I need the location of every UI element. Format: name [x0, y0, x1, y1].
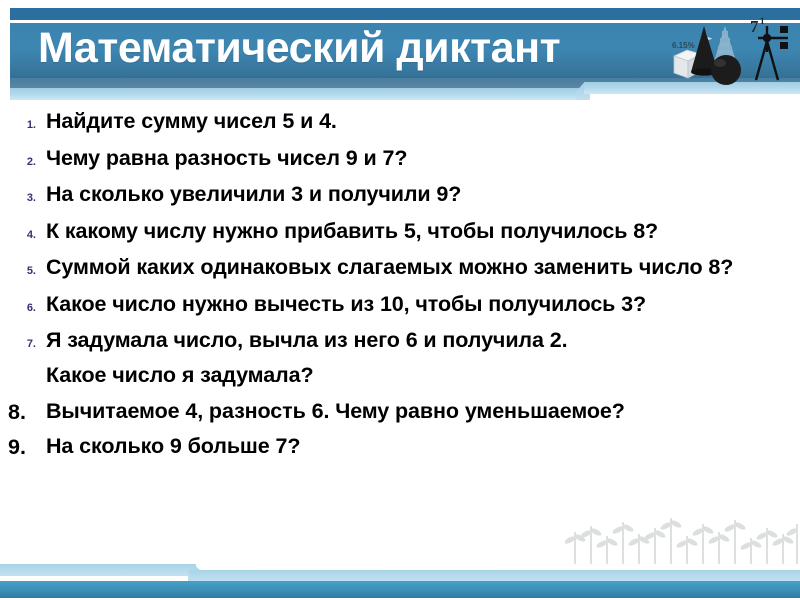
footer-light-band-left — [0, 564, 196, 576]
list-item-text: Какое число нужно вычесть из 10, чтобы п… — [46, 291, 792, 319]
header-banner: Математический диктант 6.15% — [0, 0, 800, 104]
footer-dark-band — [0, 581, 800, 598]
list-item-text: Вычитаемое 4, разность 6. Чему равно уме… — [46, 398, 792, 426]
list-item: 3. На сколько увеличили 3 и получили 9? — [0, 181, 800, 209]
list-item: 8. Вычитаемое 4, разность 6. Чему равно … — [0, 398, 800, 427]
list-marker: 1. — [0, 108, 46, 131]
header-top-strip — [10, 8, 800, 20]
list-item: 1. Найдите сумму чисел 5 и 4. — [0, 108, 800, 136]
list-item: 7. Я задумала число, вычла из него 6 и п… — [0, 327, 800, 355]
footer-light-band-right — [190, 570, 800, 582]
list-marker: 7. — [0, 327, 46, 350]
list-item-text: Найдите сумму чисел 5 и 4. — [46, 108, 792, 136]
list-item-continuation: Какое число я задумала? — [0, 362, 800, 390]
footer-banner — [0, 558, 800, 600]
list-item-text: Чему равна разность чисел 9 и 7? — [46, 145, 792, 173]
list-marker: 2. — [0, 145, 46, 168]
list-item: 5. Суммой каких одинаковых слагаемых мож… — [0, 254, 800, 282]
list-item: 6. Какое число нужно вычесть из 10, чтоб… — [0, 291, 800, 319]
list-marker: 5. — [0, 254, 46, 277]
list-item-text: На сколько 9 больше 7? — [46, 433, 792, 461]
list-marker: 3. — [0, 181, 46, 204]
list-item-text: Я задумала число, вычла из него 6 и полу… — [46, 327, 792, 355]
list-marker: 6. — [0, 291, 46, 314]
list-marker: 4. — [0, 218, 46, 241]
list-marker-empty — [0, 362, 46, 374]
slide: Математический диктант 6.15% — [0, 0, 800, 600]
list-item: 4. К какому числу нужно прибавить 5, что… — [0, 218, 800, 246]
page-title: Математический диктант — [38, 24, 560, 73]
list-item: 2. Чему равна разность чисел 9 и 7? — [0, 145, 800, 173]
list-item-text: Какое число я задумала? — [46, 362, 792, 390]
list-item: 9. На сколько 9 больше 7? — [0, 433, 800, 462]
footer-highlight-line — [0, 581, 800, 584]
list-marker: 8. — [0, 398, 46, 427]
list-item-text: Суммой каких одинаковых слагаемых можно … — [46, 254, 792, 282]
list-item-text: На сколько увеличили 3 и получили 9? — [46, 181, 792, 209]
footer-light-band-notch — [188, 564, 202, 582]
wheat-sprouts-watermark — [565, 512, 800, 564]
header-underband-left — [10, 88, 590, 100]
question-list: 1. Найдите сумму чисел 5 и 4. 2. Чему ра… — [0, 108, 800, 467]
list-marker: 9. — [0, 433, 46, 462]
list-item-text: К какому числу нужно прибавить 5, чтобы … — [46, 218, 792, 246]
header-underband-right — [584, 82, 800, 94]
